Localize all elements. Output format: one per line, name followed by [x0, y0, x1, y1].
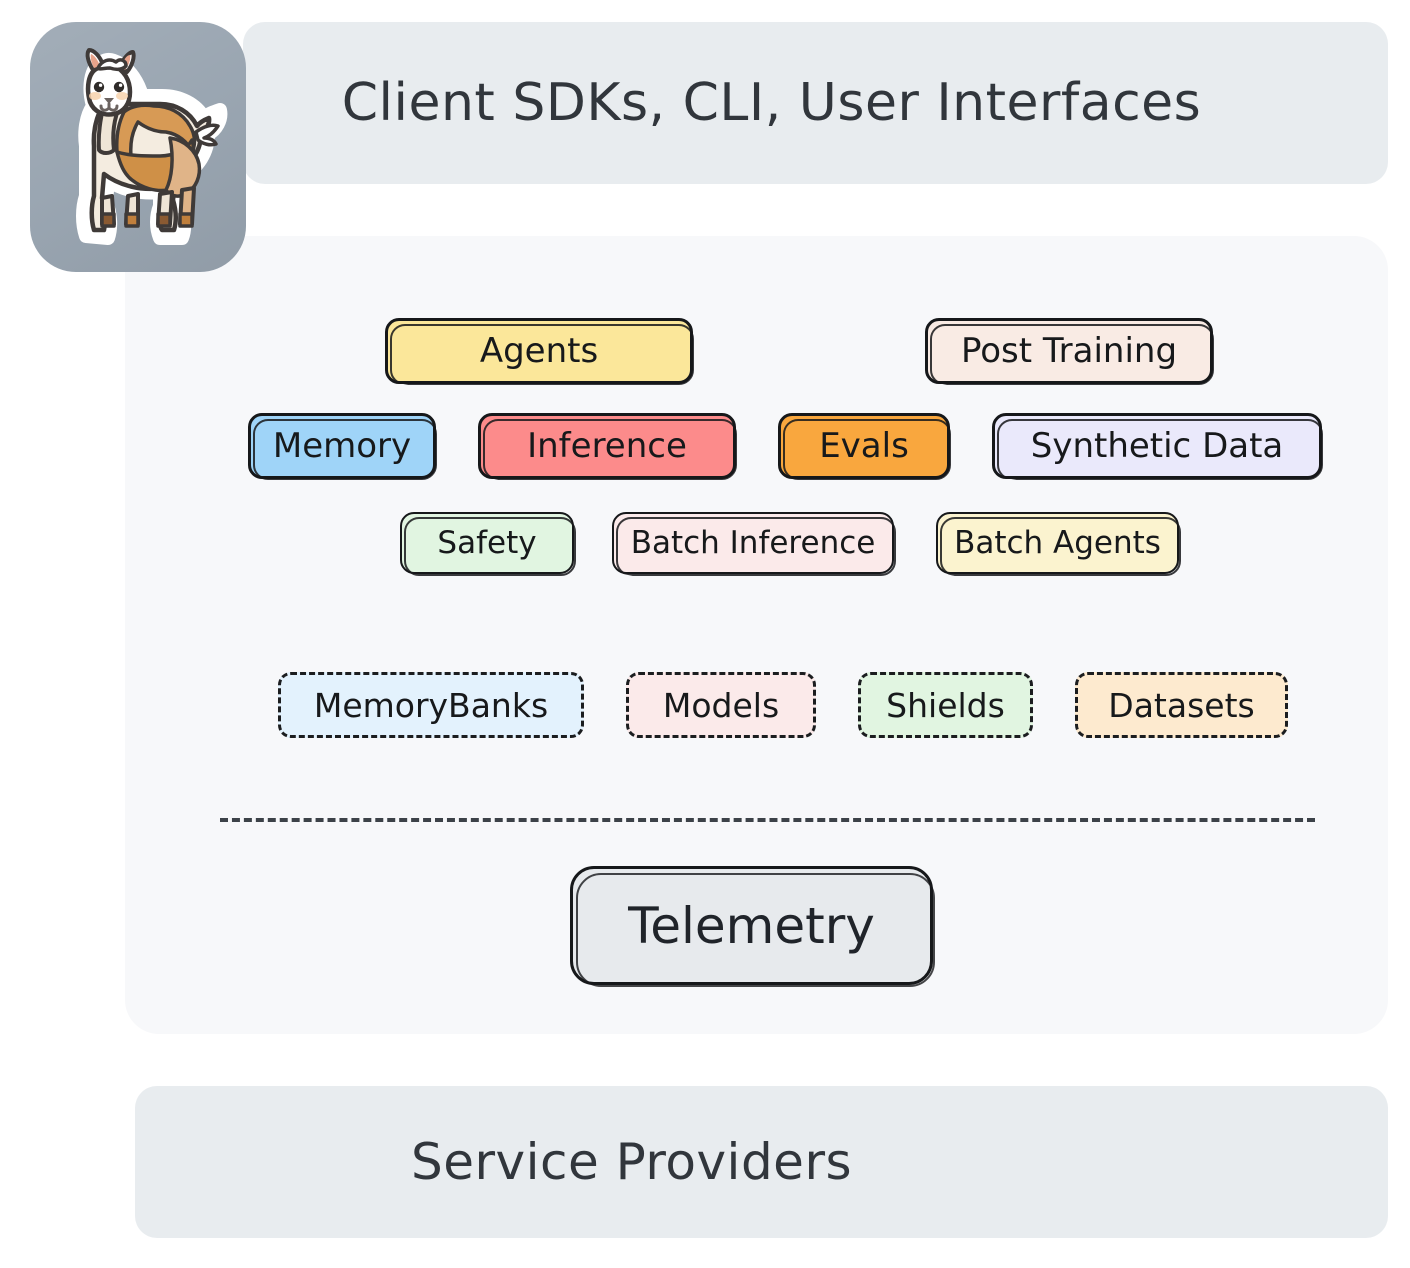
core-apis-row: MemoryInferenceEvalsSynthetic Data	[248, 413, 1322, 479]
api-box-label: Batch Inference	[631, 528, 876, 559]
api-box-batch-agents[interactable]: Batch Agents	[936, 512, 1179, 574]
api-box-label: Safety	[437, 528, 536, 559]
resource-box-label: Datasets	[1108, 689, 1254, 722]
api-box-batch-inference[interactable]: Batch Inference	[612, 512, 894, 574]
resource-box-models[interactable]: Models	[626, 672, 816, 738]
batch-row: SafetyBatch InferenceBatch Agents	[400, 512, 1179, 574]
api-box-label: Agents	[480, 334, 598, 368]
api-box-agents[interactable]: Agents	[385, 318, 693, 384]
llama-logo-tile	[30, 22, 246, 272]
telemetry-label: Telemetry	[628, 897, 875, 955]
api-box-inference[interactable]: Inference	[478, 413, 736, 479]
api-box-label: Batch Agents	[954, 528, 1161, 559]
client-layer-header: Client SDKs, CLI, User Interfaces	[243, 22, 1388, 184]
api-box-evals[interactable]: Evals	[778, 413, 950, 479]
api-box-post-training[interactable]: Post Training	[925, 318, 1213, 384]
footer-title: Service Providers	[411, 1133, 852, 1191]
api-box-label: Memory	[273, 429, 411, 463]
resource-box-datasets[interactable]: Datasets	[1075, 672, 1288, 738]
telemetry-box[interactable]: Telemetry	[570, 866, 933, 985]
service-providers-footer: Service Providers	[135, 1086, 1388, 1238]
api-box-label: Inference	[527, 429, 687, 463]
resource-box-label: Shields	[886, 689, 1005, 722]
resources-row: MemoryBanksModelsShieldsDatasets	[278, 672, 1288, 738]
agents-row: AgentsPost Training	[385, 318, 1213, 384]
dotted-divider	[220, 818, 1315, 822]
api-box-label: Synthetic Data	[1031, 429, 1284, 463]
llama-icon	[46, 46, 234, 252]
resource-box-label: MemoryBanks	[314, 689, 548, 722]
resource-box-shields[interactable]: Shields	[858, 672, 1033, 738]
api-box-label: Post Training	[961, 334, 1177, 368]
api-box-memory[interactable]: Memory	[248, 413, 436, 479]
api-box-safety[interactable]: Safety	[400, 512, 574, 574]
header-title: Client SDKs, CLI, User Interfaces	[342, 73, 1202, 133]
api-box-synthetic-data[interactable]: Synthetic Data	[992, 413, 1322, 479]
resource-box-memorybanks[interactable]: MemoryBanks	[278, 672, 584, 738]
llama-stack-panel: AgentsPost Training MemoryInferenceEvals…	[125, 236, 1388, 1034]
resource-box-label: Models	[663, 689, 779, 722]
api-box-label: Evals	[819, 429, 909, 463]
